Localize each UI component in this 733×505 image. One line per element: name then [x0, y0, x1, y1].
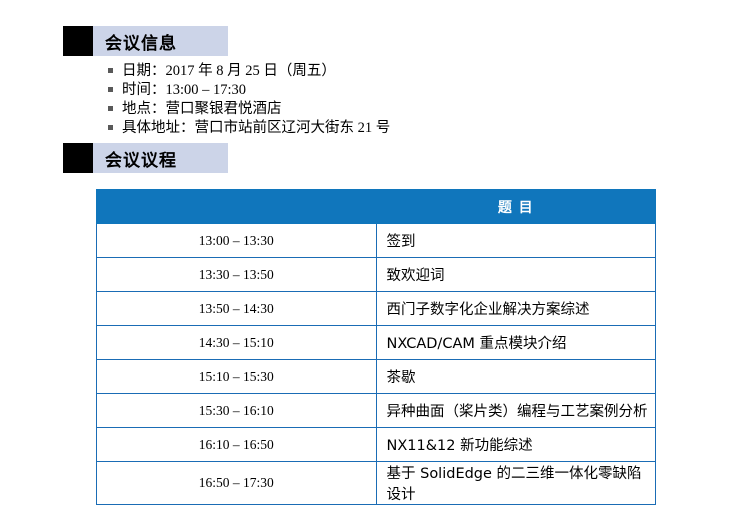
table-row: 13:00 – 13:30 签到 [97, 224, 656, 258]
agenda-table-header: 题 目 [97, 190, 656, 224]
table-row: 题 目 [97, 190, 656, 224]
info-item-date: 日期：2017 年 8 月 25 日（周五） [122, 62, 336, 81]
table-row: 14:30 – 15:10 NXCAD/CAM 重点模块介绍 [97, 326, 656, 360]
heading-marker-icon [63, 143, 93, 173]
table-row: 16:50 – 17:30 基于 SolidEdge 的二三维一体化零缺陷设计 [97, 462, 656, 505]
meeting-info-list: 日期：2017 年 8 月 25 日（周五） 时间：13:00 – 17:30 … [108, 62, 390, 138]
list-item: 地点：营口聚银君悦酒店 [108, 100, 390, 119]
cell-topic: 致欢迎词 [376, 258, 656, 292]
info-item-address: 具体地址：营口市站前区辽河大街东 21 号 [122, 119, 390, 138]
heading-band: 会议议程 [93, 143, 228, 173]
cell-time: 13:00 – 13:30 [97, 224, 377, 258]
section-heading-agenda-label: 会议议程 [105, 146, 177, 171]
section-heading-agenda: 会议议程 [63, 143, 228, 173]
cell-topic: NXCAD/CAM 重点模块介绍 [376, 326, 656, 360]
cell-topic: 茶歇 [376, 360, 656, 394]
cell-topic: 异种曲面（桨片类）编程与工艺案例分析 [376, 394, 656, 428]
bullet-icon [108, 62, 122, 81]
bullet-icon [108, 81, 122, 100]
column-header-time [97, 190, 377, 224]
slide-page: 会议信息 日期：2017 年 8 月 25 日（周五） 时间：13:00 – 1… [0, 0, 733, 478]
bullet-icon [108, 119, 122, 138]
section-heading-info-label: 会议信息 [105, 29, 177, 54]
agenda-table-body: 13:00 – 13:30 签到 13:30 – 13:50 致欢迎词 13:5… [97, 224, 656, 505]
info-item-time: 时间：13:00 – 17:30 [122, 81, 246, 100]
cell-time: 13:30 – 13:50 [97, 258, 377, 292]
bullet-icon [108, 100, 122, 119]
cell-time: 14:30 – 15:10 [97, 326, 377, 360]
list-item: 日期：2017 年 8 月 25 日（周五） [108, 62, 390, 81]
cell-time: 15:30 – 16:10 [97, 394, 377, 428]
list-item: 时间：13:00 – 17:30 [108, 81, 390, 100]
column-header-topic: 题 目 [376, 190, 656, 224]
table-row: 15:30 – 16:10 异种曲面（桨片类）编程与工艺案例分析 [97, 394, 656, 428]
cell-time: 16:10 – 16:50 [97, 428, 377, 462]
heading-band: 会议信息 [93, 26, 228, 56]
table-row: 16:10 – 16:50 NX11&12 新功能综述 [97, 428, 656, 462]
cell-topic: 签到 [376, 224, 656, 258]
cell-time: 15:10 – 15:30 [97, 360, 377, 394]
cell-topic: NX11&12 新功能综述 [376, 428, 656, 462]
cell-time: 13:50 – 14:30 [97, 292, 377, 326]
table-row: 13:50 – 14:30 西门子数字化企业解决方案综述 [97, 292, 656, 326]
section-heading-info: 会议信息 [63, 26, 228, 56]
table-row: 15:10 – 15:30 茶歇 [97, 360, 656, 394]
cell-topic: 西门子数字化企业解决方案综述 [376, 292, 656, 326]
info-item-venue: 地点：营口聚银君悦酒店 [122, 100, 282, 119]
agenda-table: 题 目 13:00 – 13:30 签到 13:30 – 13:50 致欢迎词 … [96, 189, 656, 505]
list-item: 具体地址：营口市站前区辽河大街东 21 号 [108, 119, 390, 138]
cell-topic: 基于 SolidEdge 的二三维一体化零缺陷设计 [376, 462, 656, 505]
cell-time: 16:50 – 17:30 [97, 462, 377, 505]
heading-marker-icon [63, 26, 93, 56]
table-row: 13:30 – 13:50 致欢迎词 [97, 258, 656, 292]
